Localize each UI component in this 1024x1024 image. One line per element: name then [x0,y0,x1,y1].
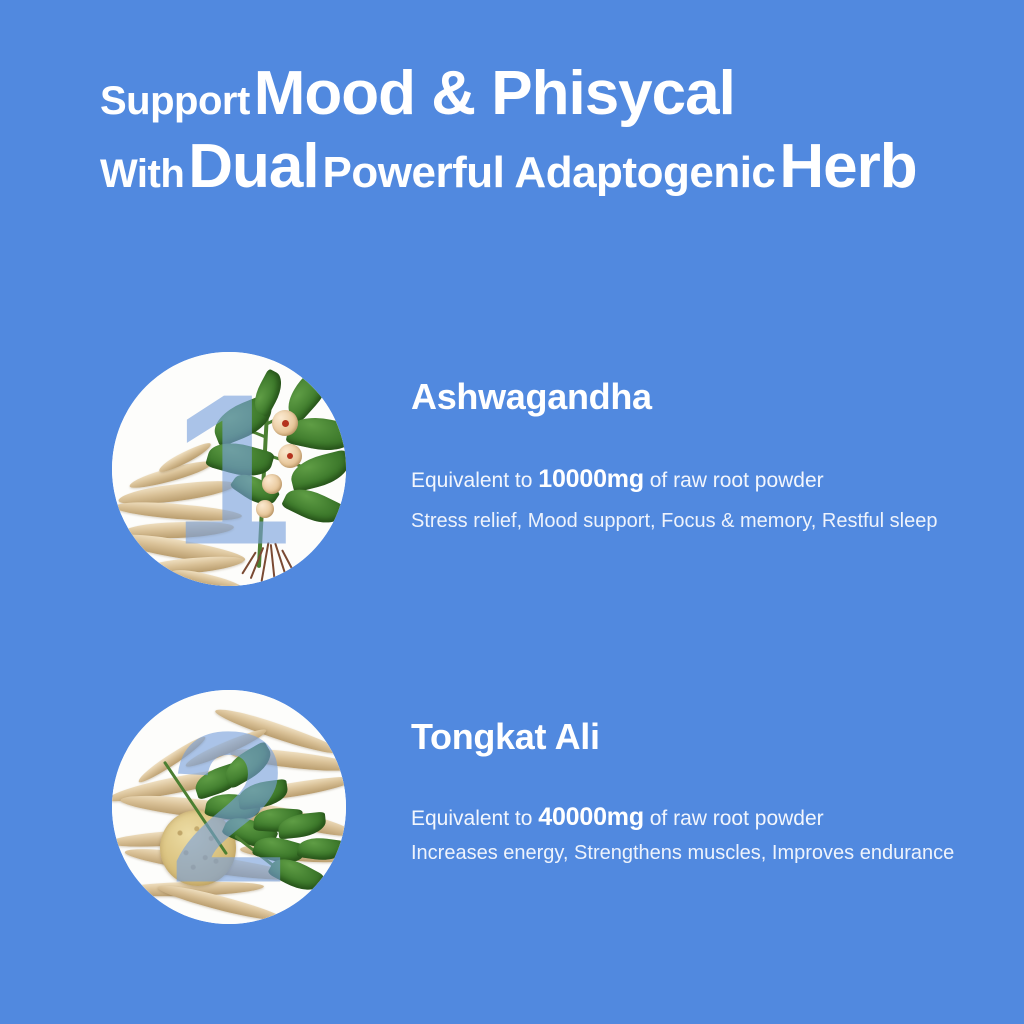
ingredient-card-ashwagandha: 1 Ashwagandha Equivalent to 10000mg of r… [112,352,938,586]
ingredient-benefits-ashwagandha: Stress relief, Mood support, Focus & mem… [411,509,938,533]
ashwagandha-photo-stage: 1 [112,352,346,586]
dosage-prefix: Equivalent to [411,469,532,492]
dosage-amount: 40000mg [538,803,644,831]
headline-word-with: With [100,152,184,196]
dosage-suffix: of raw root powder [650,807,824,830]
ingredient-dosage-tongkat-ali: Equivalent to 40000mg of raw root powder [411,802,954,832]
ingredient-title-ashwagandha: Ashwagandha [411,378,938,416]
ingredient-title-tongkat-ali: Tongkat Ali [411,718,954,756]
headline-word-dual: Dual [188,132,318,201]
dosage-amount: 10000mg [538,465,644,493]
headline-word-herb: Herb [779,132,916,201]
ingredient-image-ashwagandha: 1 [112,352,346,586]
promo-banner: Support Mood & Phisycal With Dual Powerf… [0,0,1024,1024]
headline-phrase-mood-physical: Mood & Phisycal [254,59,735,128]
ingredient-dosage-ashwagandha: Equivalent to 10000mg of raw root powder [411,464,938,494]
headline-block: Support Mood & Phisycal With Dual Powerf… [100,62,960,200]
ingredient-card-tongkat-ali: 2 Tongkat Ali Equivalent to 40000mg of r… [112,690,954,924]
dosage-suffix: of raw root powder [650,469,824,492]
dosage-prefix: Equivalent to [411,807,532,830]
tongkat-ali-photo-stage: 2 [112,690,346,924]
headline-line-2: With Dual Powerful Adaptogenic Herb [100,135,960,198]
ingredient-benefits-tongkat-ali: Increases energy, Strengthens muscles, I… [411,841,954,865]
ingredient-image-tongkat-ali: 2 [112,690,346,924]
headline-word-support: Support [100,79,250,123]
headline-phrase-powerful-adaptogenic: Powerful Adaptogenic [323,148,776,197]
ingredient-text-tongkat-ali: Tongkat Ali Equivalent to 40000mg of raw… [411,690,954,865]
headline-line-1: Support Mood & Phisycal [100,62,960,125]
ingredient-text-ashwagandha: Ashwagandha Equivalent to 10000mg of raw… [411,352,938,533]
